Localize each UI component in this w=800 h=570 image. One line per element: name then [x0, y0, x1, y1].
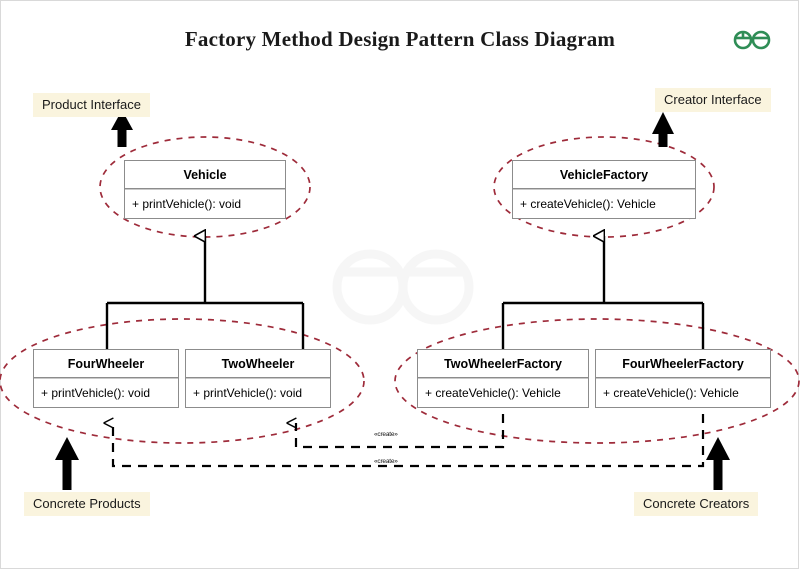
stereotype-create-lower: «create»	[374, 458, 398, 465]
connector-layer	[0, 0, 800, 570]
diagram-canvas: Factory Method Design Pattern Class Diag…	[0, 0, 800, 570]
class-box-vehicle[interactable]: Vehicle + printVehicle(): void	[124, 160, 286, 219]
dependency-create-fourwheeler	[113, 414, 703, 466]
class-operation-two-wheeler: + printVehicle(): void	[186, 378, 330, 407]
callout-product-interface: Product Interface	[33, 93, 150, 117]
class-box-vehicle-factory[interactable]: VehicleFactory + createVehicle(): Vehicl…	[512, 160, 696, 219]
callout-creator-interface: Creator Interface	[655, 88, 771, 112]
page-border	[0, 0, 799, 569]
callout-arrow-concrete-creators	[706, 437, 730, 490]
class-box-four-wheeler-factory[interactable]: FourWheelerFactory + createVehicle(): Ve…	[595, 349, 771, 408]
geeksforgeeks-logo-icon	[729, 27, 775, 53]
class-name-vehicle: Vehicle	[125, 161, 285, 189]
class-name-two-wheeler: TwoWheeler	[186, 350, 330, 378]
class-operation-two-wheeler-factory: + createVehicle(): Vehicle	[418, 378, 588, 407]
class-name-four-wheeler-factory: FourWheelerFactory	[596, 350, 770, 378]
dependency-create-twowheeler	[296, 414, 503, 447]
class-box-four-wheeler[interactable]: FourWheeler + printVehicle(): void	[33, 349, 179, 408]
callout-arrow-concrete-products	[55, 437, 79, 490]
callout-concrete-creators: Concrete Creators	[634, 492, 758, 516]
class-operation-four-wheeler: + printVehicle(): void	[34, 378, 178, 407]
class-name-two-wheeler-factory: TwoWheelerFactory	[418, 350, 588, 378]
stereotype-create-upper: «create»	[374, 431, 398, 438]
class-name-four-wheeler: FourWheeler	[34, 350, 178, 378]
callout-arrow-creator-interface	[652, 112, 674, 147]
page-title: Factory Method Design Pattern Class Diag…	[0, 27, 800, 52]
class-name-vehicle-factory: VehicleFactory	[513, 161, 695, 189]
class-operation-four-wheeler-factory: + createVehicle(): Vehicle	[596, 378, 770, 407]
geeksforgeeks-watermark-icon	[318, 232, 488, 342]
class-operation-vehicle-factory: + createVehicle(): Vehicle	[513, 189, 695, 218]
callout-concrete-products: Concrete Products	[24, 492, 150, 516]
class-box-two-wheeler-factory[interactable]: TwoWheelerFactory + createVehicle(): Veh…	[417, 349, 589, 408]
class-operation-vehicle: + printVehicle(): void	[125, 189, 285, 218]
class-box-two-wheeler[interactable]: TwoWheeler + printVehicle(): void	[185, 349, 331, 408]
